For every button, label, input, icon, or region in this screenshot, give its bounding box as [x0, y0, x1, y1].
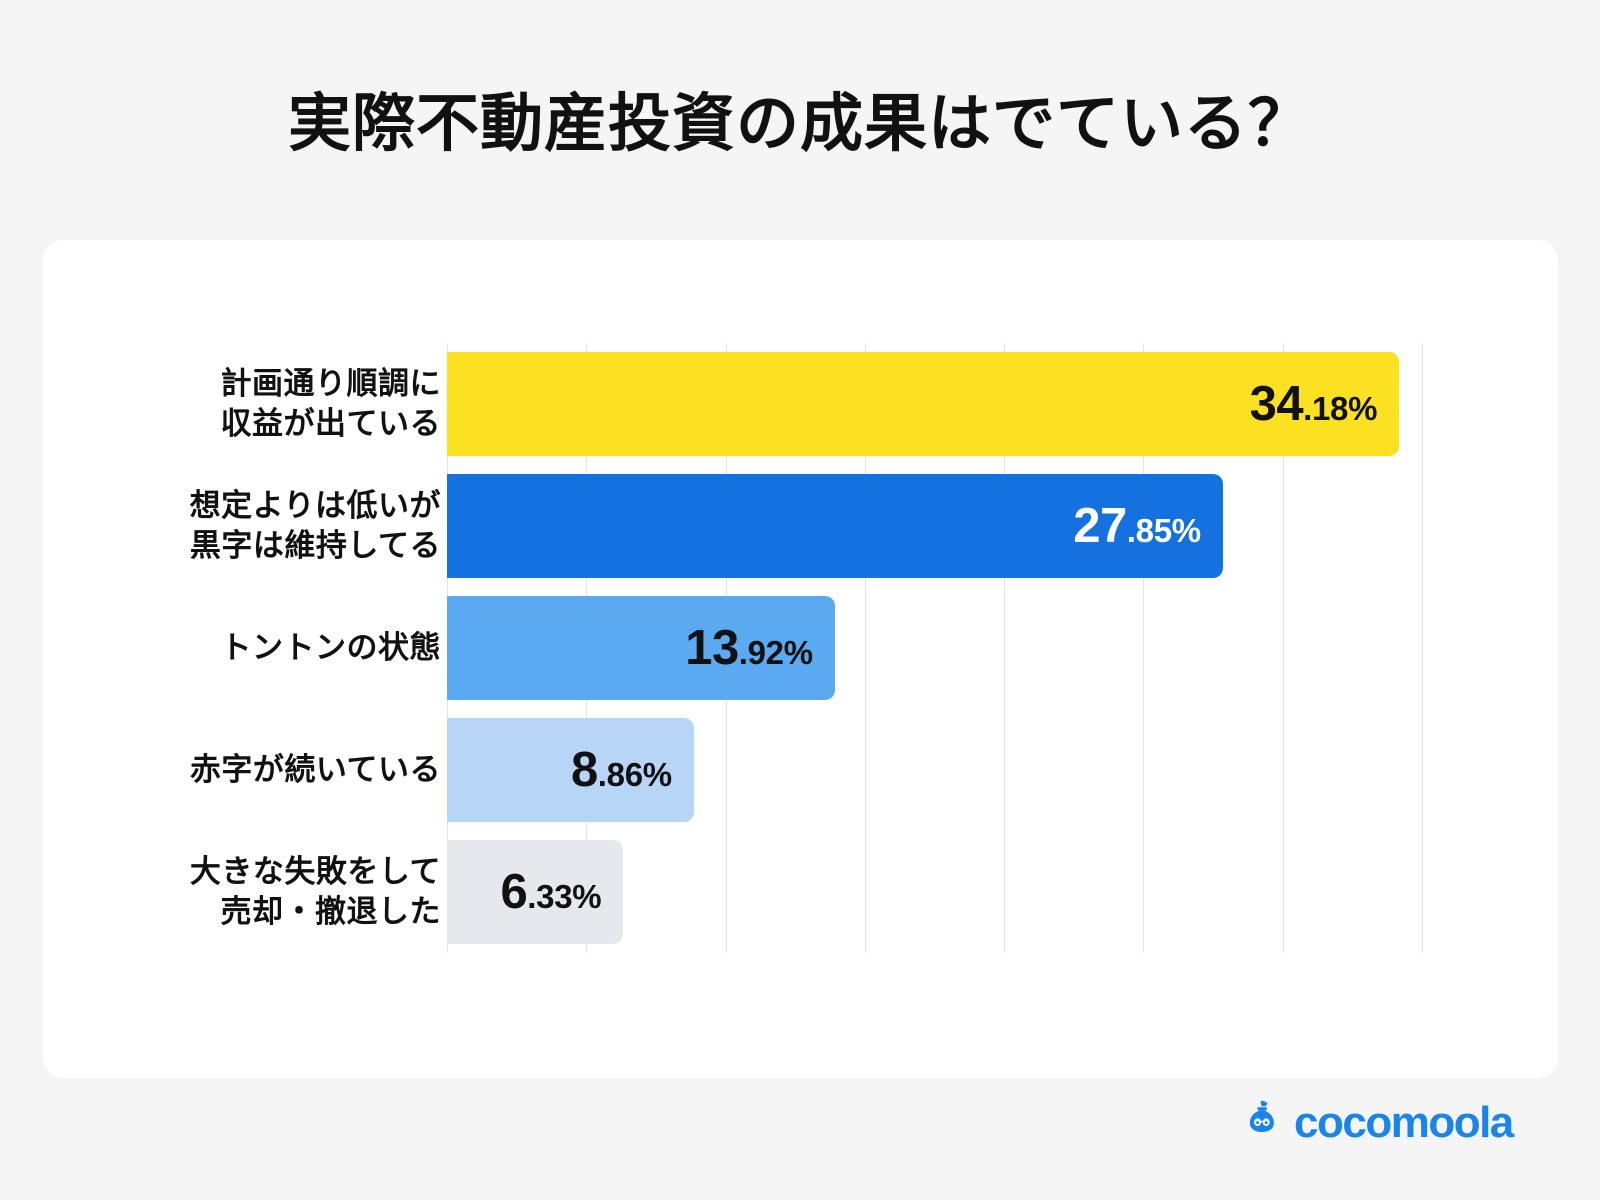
bar-rows: 計画通り順調に収益が出ている34.18%想定よりは低いが黒字は維持してる27.8… [43, 343, 1558, 953]
bar-row: 大きな失敗をして売却・撤退した6.33% [43, 831, 1558, 953]
chart-page: 実際不動産投資の成果はでている？ 計画通り順調に収益が出ている34.18%想定よ… [0, 0, 1600, 1200]
bar[interactable]: 6.33% [447, 840, 623, 944]
bar-container: 8.86% [447, 709, 694, 831]
brand-name: cocomoola [1294, 1101, 1513, 1145]
bar-row: 赤字が続いている8.86% [43, 709, 1558, 831]
bar-value-integer: 34 [1250, 376, 1304, 432]
bar[interactable]: 27.85% [447, 474, 1223, 578]
bar-container: 13.92% [447, 587, 835, 709]
brand-logo: cocomoola [1240, 1098, 1513, 1147]
bar-container: 34.18% [447, 343, 1399, 465]
bar-value-integer: 8 [571, 742, 598, 798]
bar-row: 想定よりは低いが黒字は維持してる27.85% [43, 465, 1558, 587]
category-label: トントンの状態 [91, 628, 441, 668]
bar-row: 計画通り順調に収益が出ている34.18% [43, 343, 1558, 465]
bar-value-integer: 27 [1073, 498, 1127, 554]
bar[interactable]: 8.86% [447, 718, 694, 822]
money-bag-mascot-icon [1240, 1098, 1284, 1147]
bar-value-label: 27.85% [1073, 498, 1201, 554]
chart-card: 計画通り順調に収益が出ている34.18%想定よりは低いが黒字は維持してる27.8… [43, 240, 1558, 1078]
bar-value-fraction: .85% [1127, 512, 1201, 550]
bar-value-label: 6.33% [501, 864, 602, 920]
bar[interactable]: 13.92% [447, 596, 835, 700]
chart-plot-area: 計画通り順調に収益が出ている34.18%想定よりは低いが黒字は維持してる27.8… [43, 240, 1558, 1078]
page-title: 実際不動産投資の成果はでている？ [0, 88, 1600, 160]
bar-value-label: 8.86% [571, 742, 672, 798]
category-label: 大きな失敗をして売却・撤退した [91, 852, 441, 931]
bar-value-label: 34.18% [1250, 376, 1378, 432]
category-label: 計画通り順調に収益が出ている [91, 364, 441, 443]
bar-value-integer: 6 [501, 864, 528, 920]
bar-value-fraction: .92% [739, 634, 813, 672]
bar-value-fraction: .86% [598, 756, 672, 794]
category-label: 想定よりは低いが黒字は維持してる [91, 486, 441, 565]
bar-value-fraction: .33% [527, 878, 601, 916]
bar-container: 6.33% [447, 831, 623, 953]
bar-value-fraction: .18% [1303, 390, 1377, 428]
bar-container: 27.85% [447, 465, 1223, 587]
category-label: 赤字が続いている [91, 750, 441, 790]
bar-value-integer: 13 [685, 620, 739, 676]
bar-row: トントンの状態13.92% [43, 587, 1558, 709]
bar[interactable]: 34.18% [447, 352, 1399, 456]
bar-value-label: 13.92% [685, 620, 813, 676]
